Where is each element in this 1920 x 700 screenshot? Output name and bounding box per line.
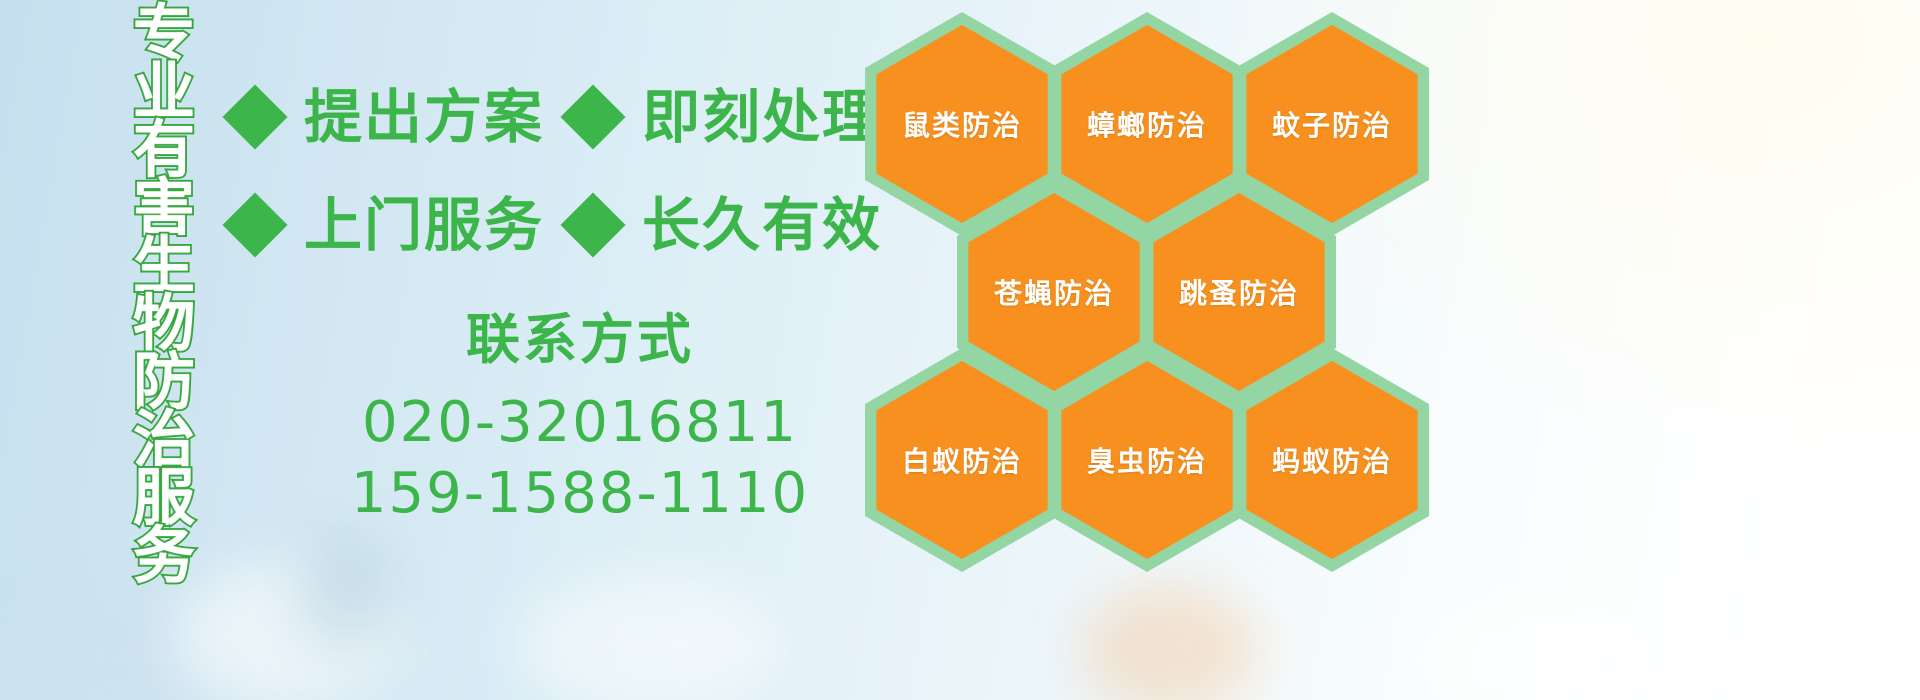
- vertical-headline: 专 业 有 害 生 物 防 治 服 务: [104, 6, 224, 572]
- background-bokeh-blob: [1400, 600, 1660, 700]
- background-bokeh-blob: [20, 600, 200, 700]
- background-bokeh-blob: [520, 575, 780, 700]
- hex-service-bedbug[interactable]: 臭虫防治: [1050, 348, 1244, 572]
- contact-label: 联系方式: [300, 312, 860, 369]
- background-bokeh-blob: [170, 560, 400, 700]
- hex-service-ant[interactable]: 蚂蚁防治: [1235, 348, 1429, 572]
- background-bokeh-blob: [1080, 585, 1260, 700]
- slogan-item-propose-plan: 提出方案: [304, 88, 544, 146]
- hex-label: 蚂蚁防治: [1235, 348, 1429, 572]
- background-bokeh-blob: [300, 540, 390, 650]
- hex-label: 白蚁防治: [865, 348, 1059, 572]
- vertical-headline-char: 物: [133, 296, 195, 352]
- vertical-headline-char: 害: [133, 180, 195, 236]
- slogan-item-onsite-service: 上门服务: [304, 196, 544, 254]
- vertical-headline-char: 业: [133, 64, 195, 120]
- vertical-headline-char: 防: [133, 354, 195, 410]
- vertical-headline-char: 治: [133, 412, 195, 468]
- contact-block: 联系方式 020-32016811 159-1588-1110: [300, 312, 860, 530]
- diamond-icon: [560, 84, 625, 149]
- contact-phone-landline[interactable]: 020-32016811: [300, 387, 860, 459]
- vertical-headline-char: 专: [133, 6, 195, 62]
- diamond-icon: [560, 192, 625, 257]
- vertical-headline-char: 有: [133, 122, 195, 178]
- hex-service-termite[interactable]: 白蚁防治: [865, 348, 1059, 572]
- slogan-item-long-lasting: 长久有效: [642, 196, 882, 254]
- vertical-headline-char: 生: [133, 238, 195, 294]
- hex-label: 臭虫防治: [1050, 348, 1244, 572]
- diamond-icon: [222, 84, 287, 149]
- slogan-item-immediate-handling: 即刻处理: [642, 88, 882, 146]
- slogan-row-1: 提出方案 即刻处理: [232, 88, 882, 146]
- vertical-headline-char: 服: [133, 470, 195, 526]
- vertical-headline-char: 务: [133, 528, 195, 584]
- contact-phone-mobile[interactable]: 159-1588-1110: [300, 458, 860, 530]
- slogan-row-2: 上门服务 长久有效: [232, 196, 882, 254]
- pest-control-banner: 专 业 有 害 生 物 防 治 服 务 提出方案 即刻处理 上门服务 长久有效 …: [0, 0, 1920, 700]
- diamond-icon: [222, 192, 287, 257]
